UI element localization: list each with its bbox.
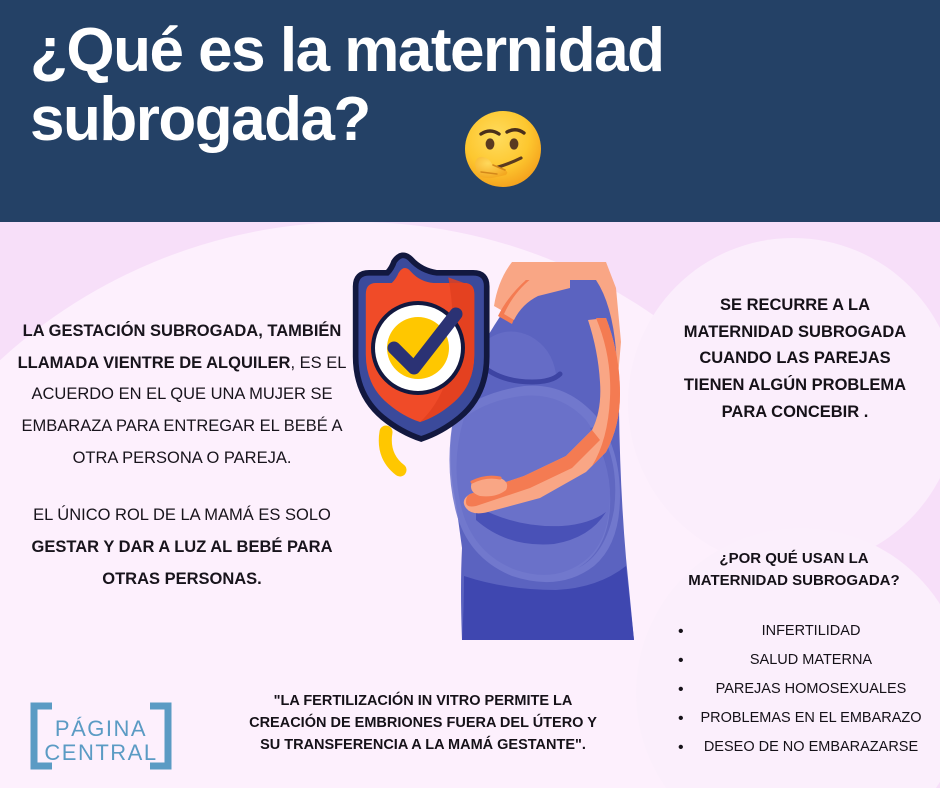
left-paragraph-1: LA GESTACIÓN SUBROGADA, TAMBIÉN LLAMADA … bbox=[8, 316, 356, 474]
list-item: •SALUD MATERNA bbox=[648, 646, 940, 675]
list-item: •PROBLEMAS EN EL EMBARAZO bbox=[648, 704, 940, 733]
list-item-label: SALUD MATERNA bbox=[750, 652, 872, 668]
left-paragraph-2-bold: GESTAR Y DAR A LUZ AL BEBÉ PARA OTRAS PE… bbox=[32, 538, 333, 588]
left-paragraph-2-regular: EL ÚNICO ROL DE LA MAMÁ ES SOLO bbox=[33, 506, 331, 524]
header-banner: ¿Qué es la maternidad subrogada? bbox=[0, 0, 940, 222]
bullet-icon: • bbox=[678, 617, 684, 646]
list-item: •DESEO DE NO EMBARAZARSE bbox=[648, 733, 940, 762]
left-paragraph-2: EL ÚNICO ROL DE LA MAMÁ ES SOLO GESTAR Y… bbox=[8, 500, 356, 595]
bottom-quote-text: "LA FERTILIZACIÓN IN VITRO PERMITE LA CR… bbox=[228, 690, 618, 756]
list-item-label: INFERTILIDAD bbox=[762, 623, 861, 639]
list-item: •INFERTILIDAD bbox=[648, 617, 940, 646]
bullet-icon: • bbox=[678, 733, 684, 762]
reasons-list-block: ¿POR QUÉ USAN LA MATERNIDAD SUBROGADA? •… bbox=[648, 548, 940, 762]
infographic-canvas: ¿Qué es la maternidad subrogada? bbox=[0, 0, 940, 788]
bullet-icon: • bbox=[678, 704, 684, 733]
bullet-icon: • bbox=[678, 675, 684, 704]
list-item: •PAREJAS HOMOSEXUALES bbox=[648, 675, 940, 704]
logo-line-2: CENTRAL bbox=[44, 740, 157, 765]
left-description-text: LA GESTACIÓN SUBROGADA, TAMBIÉN LLAMADA … bbox=[8, 316, 356, 595]
list-item-label: DESEO DE NO EMBARAZARSE bbox=[704, 739, 918, 755]
logo-line-1: PÁGINA bbox=[55, 716, 147, 741]
thinking-face-emoji bbox=[459, 108, 547, 196]
list-item-label: PAREJAS HOMOSEXUALES bbox=[716, 681, 907, 697]
top-right-description-text: SE RECURRE A LA MATERNIDAD SUBROGADA CUA… bbox=[668, 292, 922, 426]
paragraph-spacer bbox=[8, 474, 356, 500]
reasons-list-title: ¿POR QUÉ USAN LA MATERNIDAD SUBROGADA? bbox=[648, 548, 940, 592]
pagina-central-logo: PÁGINA CENTRAL bbox=[26, 700, 176, 772]
bullet-icon: • bbox=[678, 646, 684, 675]
list-item-label: PROBLEMAS EN EL EMBARAZO bbox=[700, 710, 921, 726]
reasons-list: •INFERTILIDAD •SALUD MATERNA •PAREJAS HO… bbox=[648, 617, 940, 762]
